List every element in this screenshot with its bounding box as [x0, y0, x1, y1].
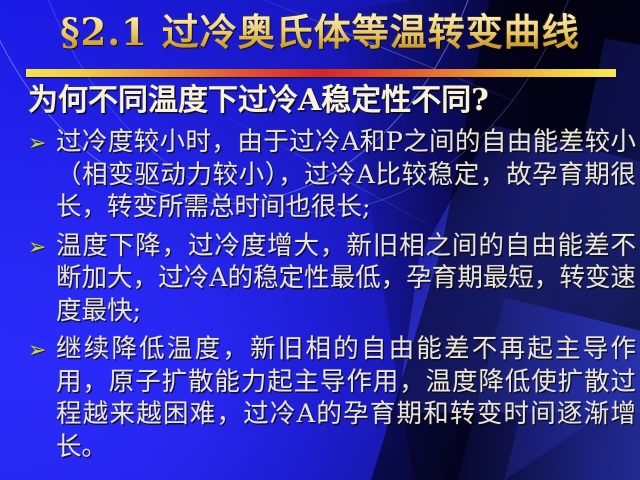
bullet-arrow-icon: ➢: [28, 129, 46, 159]
bullet-item: ➢ 继续降低温度，新旧相的自由能差不再起主导作用，原子扩散能力起主导作用，温度降…: [24, 333, 636, 463]
bullet-arrow-icon: ➢: [28, 336, 46, 366]
bullet-list: ➢ 过冷度较小时，由于过冷A和P之间的自由能差较小（相变驱动力较小），过冷A比较…: [24, 126, 636, 469]
bullet-item: ➢ 温度下降，过冷度增大，新旧相之间的自由能差不断加大，过冷A的稳定性最低，孕育…: [24, 230, 636, 328]
title-divider-bar: [26, 69, 616, 77]
slide-subtitle: 为何不同温度下过冷A稳定性不同?: [28, 82, 628, 120]
bullet-text: 继续降低温度，新旧相的自由能差不再起主导作用，原子扩散能力起主导作用，温度降低使…: [56, 333, 636, 463]
bullet-text: 过冷度较小时，由于过冷A和P之间的自由能差较小（相变驱动力较小），过冷A比较稳定…: [56, 126, 636, 224]
bullet-arrow-icon: ➢: [28, 233, 46, 263]
bullet-text: 温度下降，过冷度增大，新旧相之间的自由能差不断加大，过冷A的稳定性最低，孕育期最…: [56, 230, 636, 328]
bullet-item: ➢ 过冷度较小时，由于过冷A和P之间的自由能差较小（相变驱动力较小），过冷A比较…: [24, 126, 636, 224]
slide-canvas: §2.1 过冷奥氏体等温转变曲线 为何不同温度下过冷A稳定性不同? ➢ 过冷度较…: [0, 0, 640, 480]
slide-title: §2.1 过冷奥氏体等温转变曲线: [0, 6, 640, 58]
